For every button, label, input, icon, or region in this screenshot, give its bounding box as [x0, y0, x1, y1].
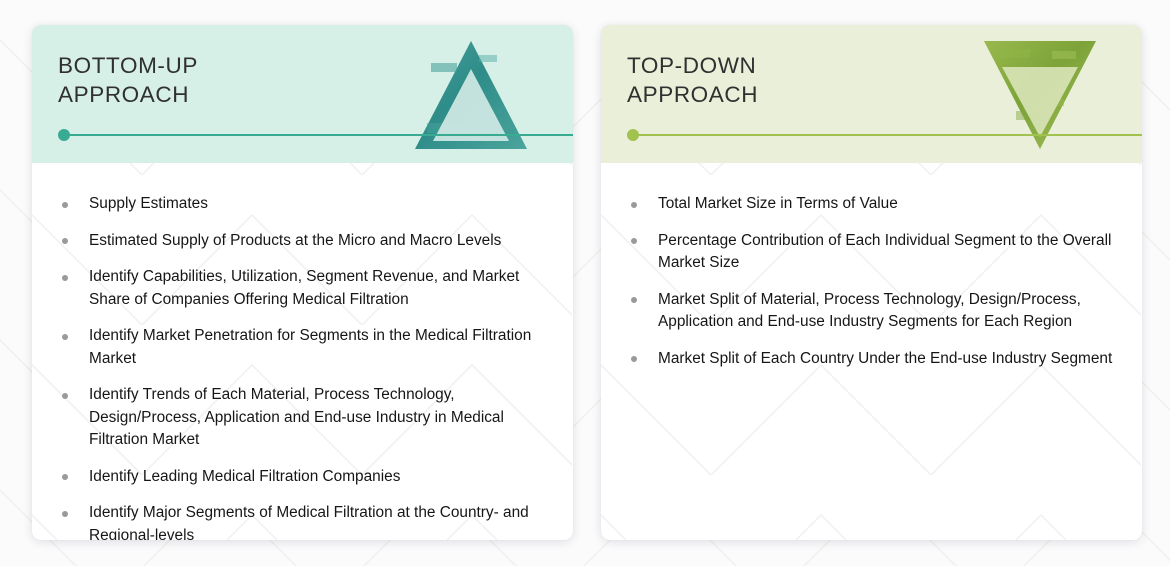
- card-title-bottom-up: BOTTOM-UP APPROACH: [58, 51, 573, 109]
- rule-dot: [627, 129, 639, 141]
- list-item: Supply Estimates: [58, 193, 547, 216]
- list-item: Market Split of Each Country Under the E…: [627, 348, 1116, 371]
- card-header-bottom-up: BOTTOM-UP APPROACH: [32, 25, 573, 163]
- approach-cards-container: BOTTOM-UP APPROACH: [0, 0, 1170, 566]
- list-item: Identify Trends of Each Material, Proces…: [58, 384, 547, 452]
- list-item: Identify Market Penetration for Segments…: [58, 325, 547, 370]
- list-item: Identify Leading Medical Filtration Comp…: [58, 466, 547, 489]
- rule-line: [633, 134, 1142, 136]
- bullet-list-top-down: Total Market Size in Terms of Value Perc…: [627, 193, 1116, 370]
- card-bottom-up: BOTTOM-UP APPROACH: [32, 25, 573, 540]
- list-item: Estimated Supply of Products at the Micr…: [58, 230, 547, 253]
- rule-line: [64, 134, 573, 136]
- list-item: Total Market Size in Terms of Value: [627, 193, 1116, 216]
- header-rule-right: [627, 129, 1142, 141]
- card-body-bottom-up: Supply Estimates Estimated Supply of Pro…: [32, 163, 573, 540]
- card-title-top-down: TOP-DOWN APPROACH: [627, 51, 1142, 109]
- list-item: Percentage Contribution of Each Individu…: [627, 230, 1116, 275]
- card-body-top-down: Total Market Size in Terms of Value Perc…: [601, 163, 1142, 540]
- card-header-top-down: TOP-DOWN APPROACH: [601, 25, 1142, 163]
- list-item: Identify Major Segments of Medical Filtr…: [58, 502, 547, 540]
- header-rule-left: [58, 129, 573, 141]
- rule-dot: [58, 129, 70, 141]
- list-item: Identify Capabilities, Utilization, Segm…: [58, 266, 547, 311]
- bullet-list-bottom-up: Supply Estimates Estimated Supply of Pro…: [58, 193, 547, 540]
- list-item: Market Split of Material, Process Techno…: [627, 289, 1116, 334]
- card-top-down: TOP-DOWN APPROACH: [601, 25, 1142, 540]
